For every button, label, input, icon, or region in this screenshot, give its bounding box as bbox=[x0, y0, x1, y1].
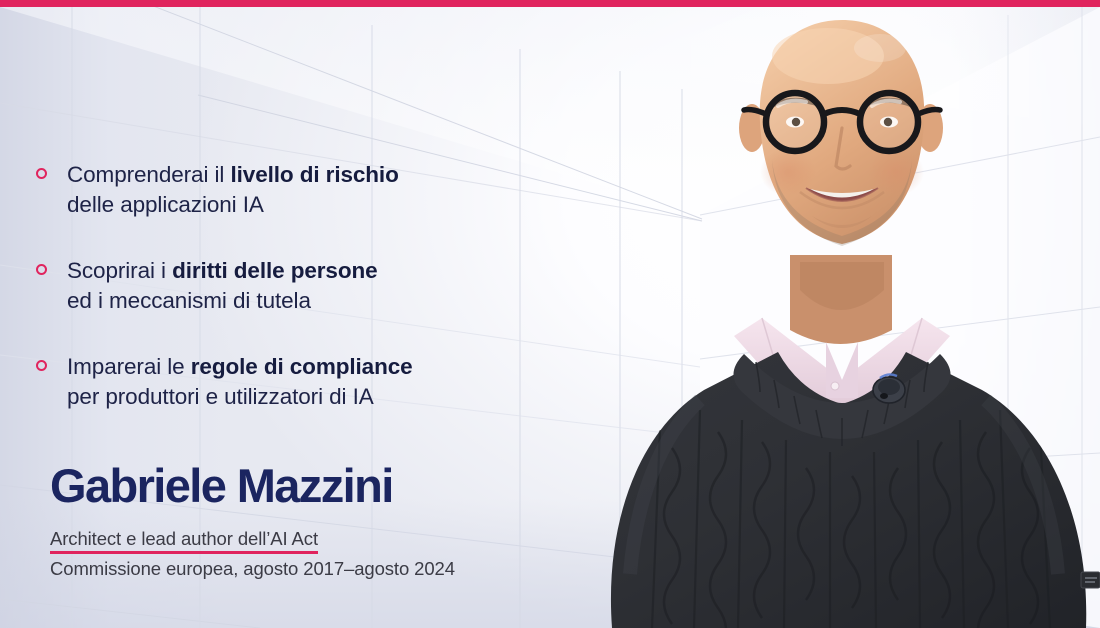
list-item: Scoprirai i diritti delle persone ed i m… bbox=[36, 256, 536, 316]
speaker-role-underline bbox=[50, 551, 318, 554]
bullet-text: Comprenderai il livello di rischio delle… bbox=[67, 160, 399, 220]
hollow-circle-bullet-icon bbox=[36, 264, 47, 275]
list-item: Imparerai le regole di compliance per pr… bbox=[36, 352, 536, 412]
hollow-circle-bullet-icon bbox=[36, 360, 47, 371]
top-accent-bar bbox=[0, 0, 1100, 7]
slide-text-overlay: Comprenderai il livello di rischio delle… bbox=[0, 0, 560, 628]
speaker-role-wrapper: Architect e lead author dell’AI Act bbox=[50, 527, 318, 550]
bullet-list: Comprenderai il livello di rischio delle… bbox=[36, 160, 536, 412]
bullet-text: Scoprirai i diritti delle persone ed i m… bbox=[67, 256, 378, 316]
video-slide: Comprenderai il livello di rischio delle… bbox=[0, 0, 1100, 628]
bullet-text: Imparerai le regole di compliance per pr… bbox=[67, 352, 413, 412]
list-item: Comprenderai il livello di rischio delle… bbox=[36, 160, 536, 220]
speaker-role: Architect e lead author dell’AI Act bbox=[50, 527, 318, 550]
hollow-circle-bullet-icon bbox=[36, 168, 47, 179]
speaker-organization: Commissione europea, agosto 2017–agosto … bbox=[50, 557, 530, 580]
speaker-lower-third: Gabriele Mazzini Architect e lead author… bbox=[50, 462, 530, 580]
speaker-name: Gabriele Mazzini bbox=[50, 462, 530, 509]
